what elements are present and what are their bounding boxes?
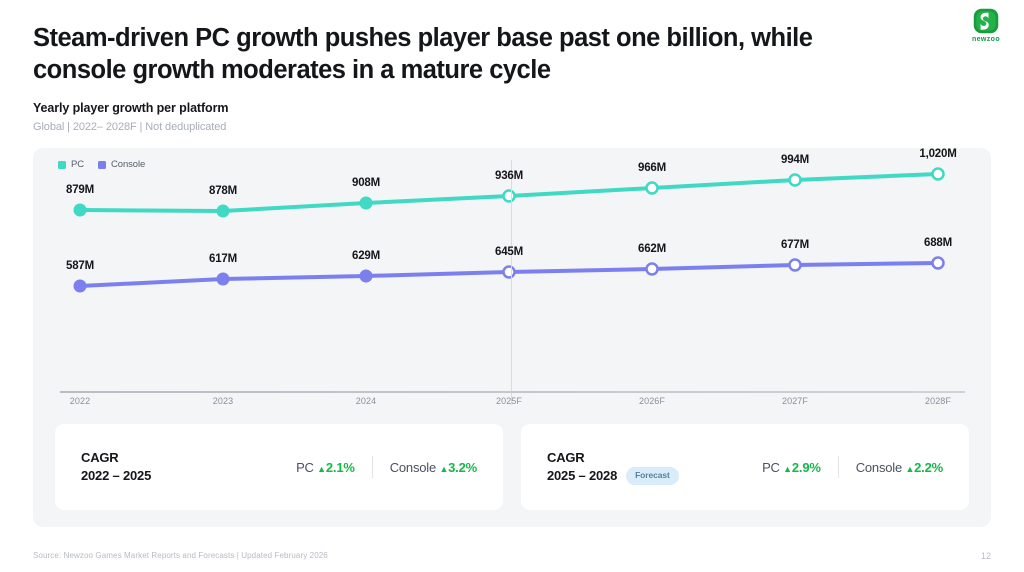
data-point-pc-2024[interactable] xyxy=(360,197,373,210)
cagr-stat-console-value: 2.2% xyxy=(914,460,943,475)
value-label-console-2022: 587M xyxy=(66,260,94,272)
cagr-stats-forecast: PC ▲2.9% Console ▲2.2% xyxy=(762,456,943,478)
value-label-console-2023: 617M xyxy=(209,253,237,265)
newzoo-logo-icon xyxy=(972,7,1000,35)
value-label-pc-2028F: 1,020M xyxy=(919,148,956,160)
x-tick-2022: 2022 xyxy=(70,396,90,406)
data-point-console-2022[interactable] xyxy=(74,280,87,293)
trend-up-icon: ▲ xyxy=(317,464,326,474)
status-badge-forecast: Forecast xyxy=(626,467,679,484)
forecast-divider xyxy=(511,160,512,405)
data-point-console-2024[interactable] xyxy=(360,270,373,283)
value-label-pc-2027F: 994M xyxy=(781,154,809,166)
data-point-console-2025F[interactable] xyxy=(504,267,515,278)
data-point-console-2023[interactable] xyxy=(217,273,230,286)
value-label-console-2025F: 645M xyxy=(495,246,523,258)
trend-up-icon: ▲ xyxy=(783,464,792,474)
trend-up-icon: ▲ xyxy=(905,464,914,474)
cagr-period: 2022 – 2025 xyxy=(81,467,151,485)
x-tick-2027F: 2027F xyxy=(782,396,808,406)
newzoo-logo: newzoo xyxy=(962,7,1010,43)
cagr-stat-console: Console ▲3.2% xyxy=(390,460,477,475)
value-label-console-2026F: 662M xyxy=(638,243,666,255)
x-tick-2023: 2023 xyxy=(213,396,233,406)
cagr-stat-console-value: 3.2% xyxy=(448,460,477,475)
stat-divider xyxy=(838,456,839,478)
x-tick-2025F: 2025F xyxy=(496,396,522,406)
newzoo-wordmark: newzoo xyxy=(962,36,1010,43)
cagr-stat-pc: PC ▲2.1% xyxy=(296,460,355,475)
value-label-pc-2025F: 936M xyxy=(495,170,523,182)
x-tick-2028F: 2028F xyxy=(925,396,951,406)
value-label-pc-2023: 878M xyxy=(209,185,237,197)
value-label-pc-2024: 908M xyxy=(352,177,380,189)
page-title: Steam-driven PC growth pushes player bas… xyxy=(33,22,893,87)
data-point-pc-2025F[interactable] xyxy=(504,191,515,202)
cagr-stat-console-label: Console xyxy=(390,460,436,475)
value-label-console-2028F: 688M xyxy=(924,237,952,249)
cagr-stat-pc-value: 2.1% xyxy=(326,460,355,475)
chart-panel: PC Console xyxy=(33,148,991,527)
stat-divider xyxy=(372,456,373,478)
value-label-console-2024: 629M xyxy=(352,250,380,262)
cagr-label: CAGR xyxy=(547,449,679,467)
x-tick-2024: 2024 xyxy=(356,396,376,406)
line-chart-svg xyxy=(33,148,991,408)
data-point-console-2028F[interactable] xyxy=(933,258,944,269)
x-axis-line xyxy=(60,391,965,393)
data-point-pc-2026F[interactable] xyxy=(647,183,658,194)
value-label-pc-2026F: 966M xyxy=(638,162,666,174)
cagr-card-title-forecast: CAGR 2025 – 2028 Forecast xyxy=(547,449,679,484)
source-note: Source: Newzoo Games Market Reports and … xyxy=(33,551,328,560)
cagr-card-title-historical: CAGR 2022 – 2025 xyxy=(81,449,151,484)
cagr-stat-console: Console ▲2.2% xyxy=(856,460,943,475)
page-number: 12 xyxy=(981,551,991,561)
value-label-console-2027F: 677M xyxy=(781,239,809,251)
plot-area: 879M 878M 908M 936M 966M 994M 1,020M 587… xyxy=(33,148,991,408)
data-point-pc-2027F[interactable] xyxy=(790,175,801,186)
cagr-stat-console-label: Console xyxy=(856,460,902,475)
cagr-card-group: CAGR 2022 – 2025 PC ▲2.1% Console ▲3.2% … xyxy=(55,424,969,510)
chart-subtitle: Yearly player growth per platform xyxy=(33,101,228,115)
data-point-pc-2022[interactable] xyxy=(74,204,87,217)
cagr-stat-pc-value: 2.9% xyxy=(792,460,821,475)
cagr-stats-historical: PC ▲2.1% Console ▲3.2% xyxy=(296,456,477,478)
cagr-card-historical: CAGR 2022 – 2025 PC ▲2.1% Console ▲3.2% xyxy=(55,424,503,510)
data-point-console-2026F[interactable] xyxy=(647,264,658,275)
cagr-stat-pc: PC ▲2.9% xyxy=(762,460,821,475)
cagr-card-forecast: CAGR 2025 – 2028 Forecast PC ▲2.9% Conso… xyxy=(521,424,969,510)
data-point-pc-2028F[interactable] xyxy=(933,169,944,180)
data-point-console-2027F[interactable] xyxy=(790,260,801,271)
value-label-pc-2022: 879M xyxy=(66,184,94,196)
cagr-stat-pc-label: PC xyxy=(296,460,314,475)
cagr-period: 2025 – 2028 xyxy=(547,467,617,485)
x-tick-2026F: 2026F xyxy=(639,396,665,406)
data-point-pc-2023[interactable] xyxy=(217,205,230,218)
cagr-stat-pc-label: PC xyxy=(762,460,780,475)
trend-up-icon: ▲ xyxy=(439,464,448,474)
chart-scope-note: Global | 2022– 2028F | Not deduplicated xyxy=(33,121,226,133)
slide: newzoo Steam-driven PC growth pushes pla… xyxy=(0,0,1024,572)
cagr-label: CAGR xyxy=(81,449,151,467)
